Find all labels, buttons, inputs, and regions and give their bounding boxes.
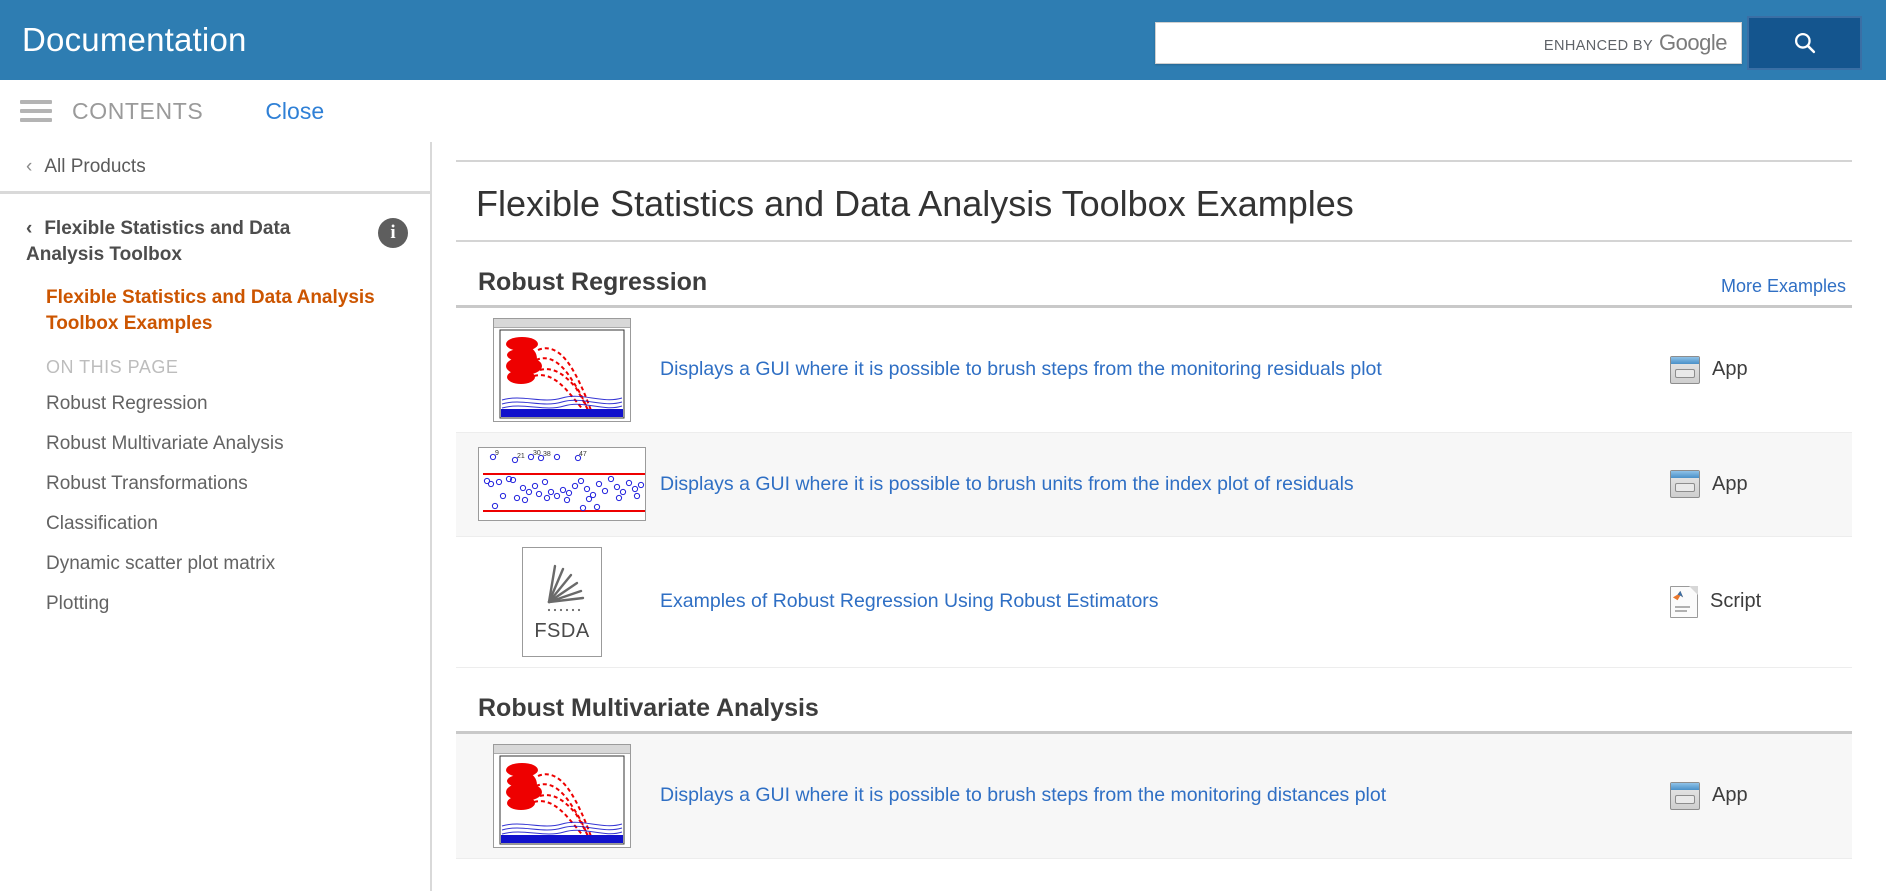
table-row[interactable]: 92130 3847 Displays a GUI where it is po… [456, 433, 1852, 537]
section-header-robust-multivariate-analysis: Robust Multivariate Analysis [456, 668, 1852, 734]
close-button[interactable]: Close [265, 98, 324, 125]
chevron-left-icon: ‹ [26, 218, 32, 239]
page-brand-title: Documentation [22, 21, 247, 59]
type-label: Script [1710, 590, 1761, 613]
contents-label: CONTENTS [72, 98, 203, 125]
example-link[interactable]: Examples of Robust Regression Using Robu… [660, 590, 1159, 612]
sidebar-item-robust-regression[interactable]: Robust Regression [0, 384, 430, 424]
fsda-label: FSDA [534, 620, 589, 643]
search-area: ENHANCED BY Google [1155, 22, 1862, 70]
search-input[interactable] [1156, 23, 1530, 63]
type-cell: App [1636, 470, 1846, 498]
script-icon [1670, 586, 1698, 618]
table-row[interactable]: Displays a GUI where it is possible to b… [456, 308, 1852, 433]
monitoring-distances-plot-thumbnail [493, 744, 631, 848]
more-examples-link[interactable]: More Examples [1721, 276, 1846, 297]
product-name-label: Flexible Statistics and Data Analysis To… [26, 218, 290, 265]
description-cell: Displays a GUI where it is possible to b… [646, 784, 1636, 807]
section-title: Robust Regression [478, 268, 707, 297]
monitoring-residuals-plot-thumbnail [493, 318, 631, 422]
hamburger-icon[interactable] [20, 100, 52, 122]
example-link[interactable]: Displays a GUI where it is possible to b… [660, 358, 1382, 380]
sidebar-item-plotting[interactable]: Plotting [0, 584, 430, 624]
description-cell: Displays a GUI where it is possible to b… [646, 473, 1636, 496]
search-icon [1792, 30, 1818, 56]
thumbnail-cell: 92130 3847 [478, 447, 646, 521]
contents-toolbar: CONTENTS Close [0, 80, 432, 142]
thumbnail-cell [478, 744, 646, 848]
type-label: App [1712, 358, 1748, 381]
thumbnail-cell: FSDA [478, 547, 646, 657]
app-icon [1670, 356, 1700, 384]
svg-text:30: 30 [533, 450, 541, 457]
sidebar-item-classification[interactable]: Classification [0, 504, 430, 544]
svg-text:9: 9 [495, 450, 499, 457]
main-content: Flexible Statistics and Data Analysis To… [434, 142, 1886, 891]
example-link[interactable]: Displays a GUI where it is possible to b… [660, 473, 1354, 495]
section-title: Robust Multivariate Analysis [478, 694, 819, 723]
page-title: Flexible Statistics and Data Analysis To… [456, 160, 1852, 242]
top-header-bar: Documentation ENHANCED BY Google [0, 0, 1886, 80]
type-cell: App [1636, 782, 1846, 810]
app-icon [1670, 782, 1700, 810]
sidebar: ‹ All Products ‹Flexible Statistics and … [0, 142, 432, 891]
info-icon[interactable]: i [378, 218, 408, 248]
product-back-link[interactable]: ‹Flexible Statistics and Data Analysis T… [26, 216, 326, 267]
section-header-robust-regression: Robust Regression More Examples [456, 242, 1852, 308]
description-cell: Displays a GUI where it is possible to b… [646, 358, 1636, 381]
type-cell: Script [1636, 586, 1846, 618]
sidebar-item-robust-transformations[interactable]: Robust Transformations [0, 464, 430, 504]
svg-text:47: 47 [579, 451, 587, 458]
svg-text:21: 21 [517, 453, 525, 460]
type-label: App [1712, 473, 1748, 496]
chevron-left-icon: ‹ [26, 156, 32, 178]
index-plot-residuals-thumbnail: 92130 3847 [478, 447, 646, 521]
enhanced-by-label: ENHANCED BY [1544, 38, 1653, 54]
type-cell: App [1636, 356, 1846, 384]
table-row[interactable]: Displays a GUI where it is possible to b… [456, 734, 1852, 859]
example-link[interactable]: Displays a GUI where it is possible to b… [660, 784, 1386, 806]
app-icon [1670, 470, 1700, 498]
google-wordmark: Google [1659, 30, 1727, 56]
google-branding: ENHANCED BY Google [1530, 30, 1741, 56]
product-block: ‹Flexible Statistics and Data Analysis T… [0, 194, 430, 273]
search-button[interactable] [1747, 16, 1862, 70]
svg-text:38: 38 [543, 451, 551, 458]
type-label: App [1712, 784, 1748, 807]
description-cell: Examples of Robust Regression Using Robu… [646, 590, 1636, 613]
table-row[interactable]: FSDA Examples of Robust Regression Using… [456, 537, 1852, 668]
fsda-logo-thumbnail: FSDA [522, 547, 602, 657]
sidebar-nav-list: Robust Regression Robust Multivariate An… [0, 384, 430, 624]
sidebar-item-current-page[interactable]: Flexible Statistics and Data Analysis To… [0, 273, 430, 340]
all-products-label: All Products [44, 156, 145, 178]
thumbnail-cell [478, 318, 646, 422]
on-this-page-label: ON THIS PAGE [0, 341, 430, 384]
sidebar-item-robust-multivariate-analysis[interactable]: Robust Multivariate Analysis [0, 424, 430, 464]
all-products-link[interactable]: ‹ All Products [0, 142, 430, 194]
matlab-glyph-icon [1672, 590, 1685, 603]
sidebar-item-dynamic-scatter-plot-matrix[interactable]: Dynamic scatter plot matrix [0, 544, 430, 584]
search-box[interactable]: ENHANCED BY Google [1155, 22, 1742, 64]
